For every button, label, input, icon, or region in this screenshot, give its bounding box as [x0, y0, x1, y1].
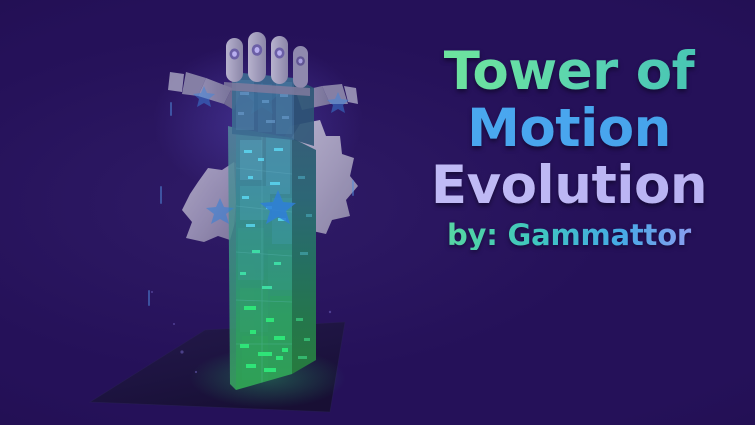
title-line-1: Tower of	[383, 46, 755, 98]
title-line-3: Evolution	[383, 160, 755, 212]
author-byline: by: Gammattor	[383, 221, 755, 250]
tower-shaft	[228, 126, 316, 390]
title-line-2: Motion	[383, 103, 755, 155]
tower-scene	[0, 0, 400, 425]
title-block: Tower of Motion Evolution by: Gammattor	[383, 46, 755, 250]
thumbnail-canvas: Tower of Motion Evolution by: Gammattor	[0, 0, 755, 425]
